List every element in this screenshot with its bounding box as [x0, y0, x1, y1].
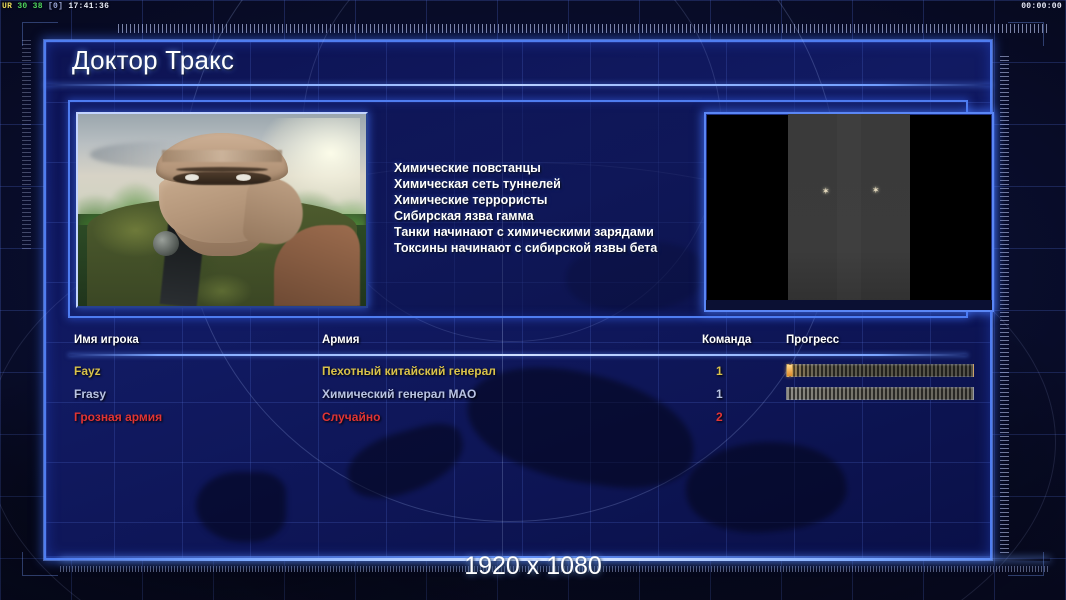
player-team: 1 [716, 383, 723, 406]
debug-label: UR [2, 2, 12, 11]
player-progress [786, 387, 974, 400]
match-timer: 00:00:00 [1021, 0, 1062, 13]
header-divider [68, 354, 968, 356]
column-header-army: Армия [322, 334, 359, 346]
map-bottom-edge [706, 300, 992, 310]
progress-bar [786, 387, 974, 400]
column-header-name: Имя игрока [74, 334, 139, 346]
player-list: Имя игрока Армия Команда Прогресс Fayz П… [68, 334, 968, 542]
player-list-body: Fayz Пехотный китайский генерал 1 Frasy … [68, 360, 968, 429]
table-row[interactable]: Грозная армия Случайно 2 [68, 406, 968, 429]
player-list-header: Имя игрока Армия Команда Прогресс [68, 334, 968, 356]
player-army: Химический генерал МАО [322, 383, 476, 406]
progress-bar-highlight [787, 365, 792, 376]
table-row[interactable]: Frasy Химический генерал МАО 1 [68, 383, 968, 406]
map-road [837, 114, 862, 310]
player-team: 1 [716, 360, 723, 383]
portrait-eye-right [236, 174, 250, 180]
debug-bracket: [0] [48, 2, 63, 11]
briefing-line: Танки начинают с химическими зарядами [394, 224, 657, 240]
briefing-line: Сибирская язва гамма [394, 208, 657, 224]
window-titlebar: Доктор Тракс [44, 40, 992, 86]
portrait-eye-left [185, 174, 199, 180]
loading-window: Доктор Тракс [44, 40, 992, 560]
debug-clock: 17:41:36 [68, 2, 109, 11]
resolution-label: 1920 x 1080 [0, 552, 1066, 581]
player-name: Грозная армия [74, 406, 162, 429]
map-oil-derrick-icon: ✶ [872, 185, 880, 196]
general-portrait [76, 112, 368, 308]
player-name: Fayz [74, 360, 101, 383]
player-team: 2 [716, 406, 723, 429]
column-header-team: Команда [702, 334, 751, 346]
map-preview[interactable]: ✶ ✶ $$$$$$ $$$$$$ $$$$ ★★★ 2 1 [704, 112, 994, 312]
briefing-line: Химическая сеть туннелей [394, 176, 657, 192]
briefing-line: Химические повстанцы [394, 160, 657, 176]
player-army: Пехотный китайский генерал [322, 360, 496, 383]
progress-bar [786, 364, 974, 377]
debug-stats: UR 30 38 [0] 17:41:36 [2, 0, 109, 13]
table-row[interactable]: Fayz Пехотный китайский генерал 1 [68, 360, 968, 383]
portrait-wrap-fold [162, 150, 283, 162]
debug-value-b: 38 [33, 2, 43, 11]
debug-overlay-bar: UR 30 38 [0] 17:41:36 00:00:00 [0, 0, 1066, 13]
game-loading-screen: UR 30 38 [0] 17:41:36 00:00:00 Д [0, 0, 1066, 600]
player-progress [786, 364, 974, 377]
portrait-canteen [153, 231, 179, 256]
briefing-description: Химические повстанцы Химическая сеть тун… [394, 160, 657, 256]
map-terrain-band [788, 114, 911, 310]
column-header-progress: Прогресс [786, 334, 839, 346]
corner-bracket-top-right [1008, 22, 1044, 46]
briefing-line: Токсины начинают с сибирской язвы бета [394, 240, 657, 256]
debug-value-a: 30 [17, 2, 27, 11]
briefing-line: Химические террористы [394, 192, 657, 208]
player-army: Случайно [322, 406, 380, 429]
map-oil-derrick-icon: ✶ [822, 186, 830, 197]
page-title: Доктор Тракс [72, 45, 234, 76]
player-name: Frasy [74, 383, 106, 406]
